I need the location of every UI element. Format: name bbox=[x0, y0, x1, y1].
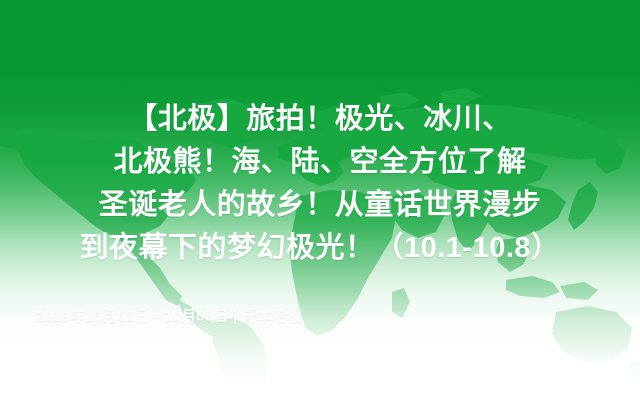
banner-content: 【北极】旅拍！极光、冰川、 北极熊！海、陆、空全方位了解 圣诞老人的故乡！从童话… bbox=[0, 0, 640, 400]
banner-subtitle-dates-location: 2019年10月01日 - 10月08日 | 哥本哈根 bbox=[36, 305, 302, 326]
banner-title: 【北极】旅拍！极光、冰川、 北极熊！海、陆、空全方位了解 圣诞老人的故乡！从童话… bbox=[20, 98, 620, 270]
travel-promo-banner: 【北极】旅拍！极光、冰川、 北极熊！海、陆、空全方位了解 圣诞老人的故乡！从童话… bbox=[0, 0, 640, 400]
title-line-4: 到夜幕下的梦幻极光！（10.1-10.8） bbox=[20, 227, 620, 270]
title-line-1: 【北极】旅拍！极光、冰川、 bbox=[20, 98, 620, 141]
title-line-3: 圣诞老人的故乡！从童话世界漫步 bbox=[20, 184, 620, 227]
title-line-2: 北极熊！海、陆、空全方位了解 bbox=[20, 141, 620, 184]
